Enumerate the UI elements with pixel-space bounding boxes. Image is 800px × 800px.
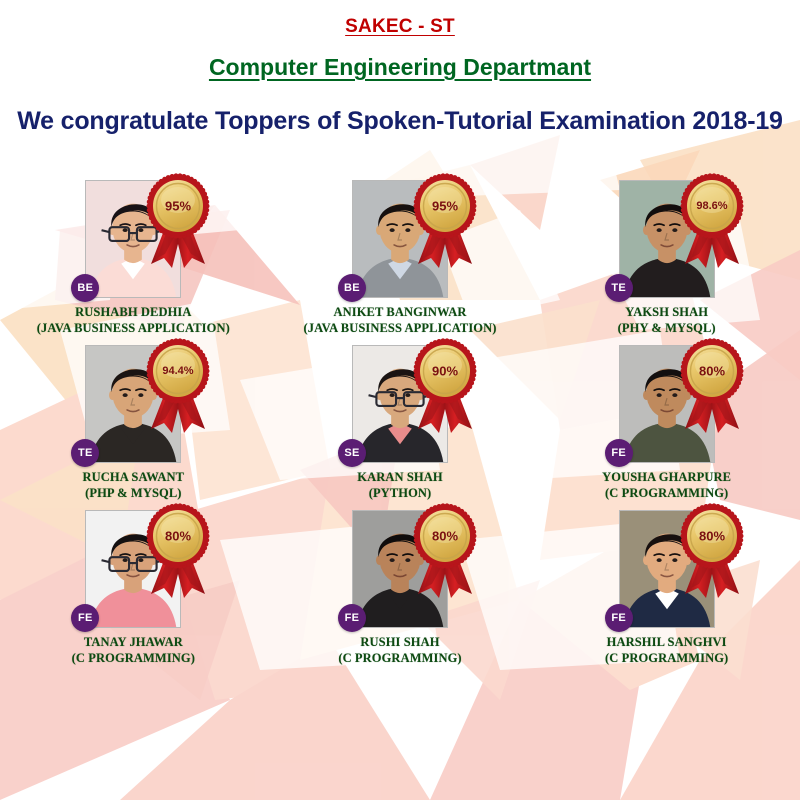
- award-ribbon-icon: 94.4%: [141, 337, 215, 437]
- topper-card: FE 80% YOUSHA GHARPU: [533, 345, 800, 510]
- student-name: TANAY JHAWAR: [72, 635, 195, 651]
- student-course: (PYTHON): [357, 486, 442, 502]
- award-ribbon-icon: 95%: [141, 172, 215, 272]
- year-badge: FE: [605, 604, 633, 632]
- topper-card: FE 80% TANAY JHAWAR: [0, 510, 267, 675]
- svg-text:80%: 80%: [165, 529, 191, 544]
- topper-card: FE 80% HARSHIL SANGH: [533, 510, 800, 675]
- svg-text:95%: 95%: [165, 199, 191, 214]
- award-ribbon-icon: 80%: [141, 502, 215, 602]
- student-course: (JAVA BUSINESS APPLICATION): [37, 321, 230, 337]
- topper-caption: TANAY JHAWAR (C PROGRAMMING): [72, 635, 195, 666]
- student-name: ANIKET BANGINWAR: [303, 305, 496, 321]
- svg-text:80%: 80%: [699, 529, 725, 544]
- svg-text:90%: 90%: [432, 364, 458, 379]
- congratulation-headline: We congratulate Toppers of Spoken-Tutori…: [0, 107, 800, 136]
- svg-text:80%: 80%: [432, 529, 458, 544]
- student-name: HARSHIL SANGHVI: [605, 635, 728, 651]
- student-course: (PHP & MYSQL): [83, 486, 185, 502]
- student-name: RUSHABH DEDHIA: [37, 305, 230, 321]
- student-course: (JAVA BUSINESS APPLICATION): [303, 321, 496, 337]
- svg-text:98.6%: 98.6%: [696, 200, 727, 212]
- student-name: RUSHI SHAH: [338, 635, 461, 651]
- topper-photo-wrap: FE 80%: [619, 510, 715, 628]
- topper-caption: YOUSHA GHARPURE (C PROGRAMMING): [602, 470, 731, 501]
- award-ribbon-icon: 80%: [675, 337, 749, 437]
- poster-header: SAKEC - ST Computer Engineering Departma…: [0, 0, 800, 136]
- topper-photo-wrap: BE 95%: [352, 180, 448, 298]
- topper-photo-wrap: FE 80%: [619, 345, 715, 463]
- topper-card: BE 95% RUSHABH DEDHI: [0, 180, 267, 345]
- topper-card: TE 94.4% RUCHA SAWAN: [0, 345, 267, 510]
- student-course: (C PROGRAMMING): [602, 486, 731, 502]
- topper-caption: ANIKET BANGINWAR (JAVA BUSINESS APPLICAT…: [303, 305, 496, 336]
- topper-card: FE 80% RUSHI SHAH: [267, 510, 534, 675]
- student-course: (C PROGRAMMING): [605, 651, 728, 667]
- student-course: (C PROGRAMMING): [338, 651, 461, 667]
- topper-photo-wrap: SE 90%: [352, 345, 448, 463]
- topper-caption: YAKSH SHAH (PHY & MYSQL): [618, 305, 716, 336]
- topper-caption: RUCHA SAWANT (PHP & MYSQL): [83, 470, 185, 501]
- topper-photo-wrap: FE 80%: [352, 510, 448, 628]
- topper-photo-wrap: TE 98.6%: [619, 180, 715, 298]
- toppers-grid: BE 95% RUSHABH DEDHI: [0, 180, 800, 675]
- award-ribbon-icon: 95%: [408, 172, 482, 272]
- award-ribbon-icon: 80%: [408, 502, 482, 602]
- year-badge: SE: [338, 439, 366, 467]
- topper-card: SE 90% KARAN SHAH: [267, 345, 534, 510]
- student-course: (C PROGRAMMING): [72, 651, 195, 667]
- topper-caption: RUSHABH DEDHIA (JAVA BUSINESS APPLICATIO…: [37, 305, 230, 336]
- year-badge: TE: [605, 274, 633, 302]
- topper-photo-wrap: BE 95%: [85, 180, 181, 298]
- year-badge: FE: [338, 604, 366, 632]
- svg-text:94.4%: 94.4%: [163, 365, 194, 377]
- topper-card: TE 98.6% YAKSH SHAH: [533, 180, 800, 345]
- topper-caption: HARSHIL SANGHVI (C PROGRAMMING): [605, 635, 728, 666]
- svg-text:80%: 80%: [699, 364, 725, 379]
- student-name: YAKSH SHAH: [618, 305, 716, 321]
- award-ribbon-icon: 98.6%: [675, 172, 749, 272]
- topper-card: BE 95% ANIKET BANGIN: [267, 180, 534, 345]
- year-badge: FE: [605, 439, 633, 467]
- svg-text:95%: 95%: [432, 199, 458, 214]
- student-name: YOUSHA GHARPURE: [602, 470, 731, 486]
- student-name: RUCHA SAWANT: [83, 470, 185, 486]
- department-title: Computer Engineering Departmant: [0, 54, 800, 81]
- year-badge: BE: [338, 274, 366, 302]
- topper-photo-wrap: TE 94.4%: [85, 345, 181, 463]
- student-name: KARAN SHAH: [357, 470, 442, 486]
- student-course: (PHY & MYSQL): [618, 321, 716, 337]
- institute-title: SAKEC - ST: [0, 16, 800, 38]
- award-ribbon-icon: 80%: [675, 502, 749, 602]
- topper-caption: KARAN SHAH (PYTHON): [357, 470, 442, 501]
- award-ribbon-icon: 90%: [408, 337, 482, 437]
- topper-caption: RUSHI SHAH (C PROGRAMMING): [338, 635, 461, 666]
- topper-photo-wrap: FE 80%: [85, 510, 181, 628]
- poster-canvas: SAKEC - ST Computer Engineering Departma…: [0, 0, 800, 800]
